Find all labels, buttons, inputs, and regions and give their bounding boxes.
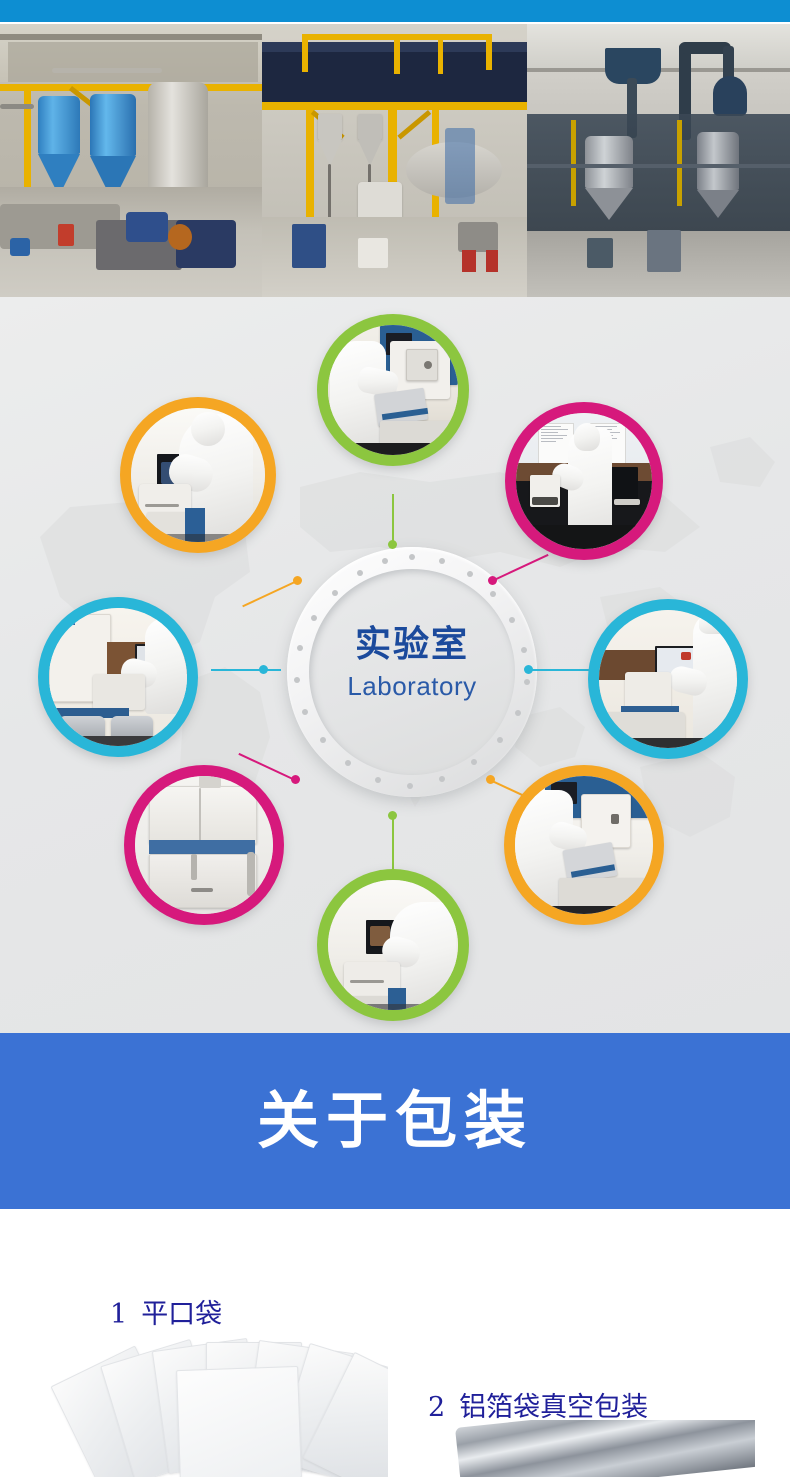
lab-bubble-bottom-right[interactable] [504,765,664,925]
factory-photo-3 [527,24,790,297]
packaging-banner: 关于包装 [0,1033,790,1209]
packaging-number-2: 2 [428,1392,445,1423]
laboratory-section: 实验室 Laboratory [0,297,790,1033]
packaging-photo-foil-bag [455,1420,755,1477]
packaging-text-1: 平口袋 [141,1299,222,1330]
connector-dot-left [259,665,268,674]
connector-dot-top-left [293,576,302,585]
lab-bubble-right[interactable] [588,599,748,759]
connector-dot-top-right [488,576,497,585]
connector-top [392,494,394,544]
top-accent-bar [0,0,790,22]
lab-bubble-top[interactable] [317,314,469,466]
foil-bag-body [455,1420,755,1477]
factory-photo-1 [0,24,262,297]
connector-bottom [392,815,394,873]
connector-dot-right [524,665,533,674]
lab-bubble-top-right[interactable] [505,402,663,560]
lab-bubble-bottom[interactable] [317,869,469,1021]
lab-bubble-left[interactable] [38,597,198,757]
packaging-label-2: 2铝箔袋真空包装 [428,1385,648,1424]
packaging-number-1: 1 [110,1299,127,1330]
connector-left [211,669,281,671]
connector-dot-top [388,540,397,549]
product-detail-page: 实验室 Laboratory [0,0,790,1477]
packaging-photo-flat-bags [28,1338,388,1477]
connector-dot-bottom [388,811,397,820]
packaging-text-2: 铝箔袋真空包装 [459,1392,648,1423]
packaging-label-1: 1平口袋 [110,1292,222,1331]
lab-title-en: Laboratory [287,671,537,702]
center-ring: 实验室 Laboratory [287,547,537,797]
banner-title: 关于包装 [257,1090,533,1152]
lab-title-cn: 实验室 [287,627,537,663]
factory-photo-2 [262,24,527,297]
connector-dot-bottom-right [486,775,495,784]
lab-bubble-top-left[interactable] [120,397,276,553]
factory-photo-strip [0,24,790,297]
connector-dot-bottom-left [291,775,300,784]
lab-bubble-bottom-left[interactable] [124,765,284,925]
